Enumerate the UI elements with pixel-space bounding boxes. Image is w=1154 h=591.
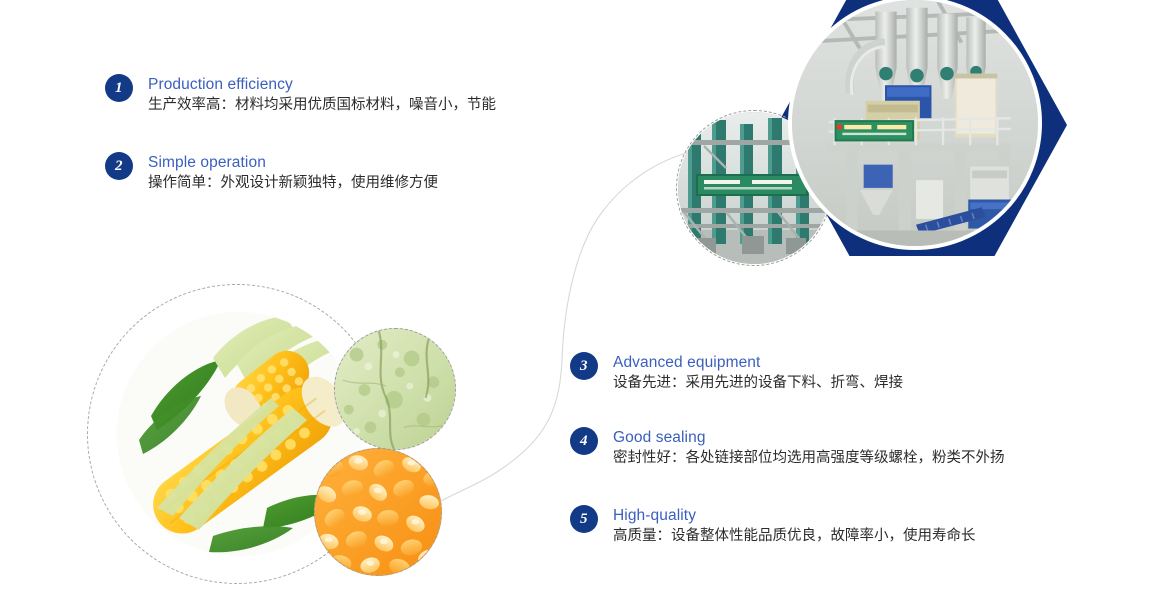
feature-description-2: 操作简单：外观设计新颖独特，使用维修方便	[148, 173, 438, 194]
feature-text-2: Simple operation 操作简单：外观设计新颖独特，使用维修方便	[148, 152, 438, 194]
corn-paste-photo	[334, 328, 456, 450]
infographic-canvas: 1 Production efficiency 生产效率高：材料均采用优质国标材…	[0, 0, 1154, 591]
feature-badge-5: 5	[570, 505, 598, 533]
feature-badge-2: 2	[105, 152, 133, 180]
feature-text-4: Good sealing 密封性好：各处链接部位均选用高强度等级螺栓，粉类不外扬	[613, 427, 1005, 469]
feature-text-3: Advanced equipment 设备先进：采用先进的设备下料、折弯、焊接	[613, 352, 903, 394]
feature-badge-3: 3	[570, 352, 598, 380]
corn-kernels-photo	[314, 448, 442, 576]
feature-description-3: 设备先进：采用先进的设备下料、折弯、焊接	[613, 373, 903, 394]
feature-description-4: 密封性好：各处链接部位均选用高强度等级螺栓，粉类不外扬	[613, 448, 1005, 469]
main-milling-plant-photo	[788, 0, 1042, 250]
feature-badge-1: 1	[105, 74, 133, 102]
feature-title-2: Simple operation	[148, 153, 438, 172]
milling-plant-image-cluster	[670, 0, 1070, 269]
feature-item-1[interactable]: 1 Production efficiency 生产效率高：材料均采用优质国标材…	[105, 74, 496, 116]
feature-title-5: High-quality	[613, 506, 976, 525]
feature-badge-4: 4	[570, 427, 598, 455]
feature-item-5[interactable]: 5 High-quality 高质量：设备整体性能品质优良，故障率小，使用寿命长	[570, 505, 976, 547]
feature-item-3[interactable]: 3 Advanced equipment 设备先进：采用先进的设备下料、折弯、焊…	[570, 352, 903, 394]
feature-text-1: Production efficiency 生产效率高：材料均采用优质国标材料，…	[148, 74, 496, 116]
feature-title-3: Advanced equipment	[613, 353, 903, 372]
feature-description-1: 生产效率高：材料均采用优质国标材料，噪音小，节能	[148, 95, 496, 116]
feature-title-4: Good sealing	[613, 428, 1005, 447]
feature-item-4[interactable]: 4 Good sealing 密封性好：各处链接部位均选用高强度等级螺栓，粉类不…	[570, 427, 1005, 469]
feature-title-1: Production efficiency	[148, 75, 496, 94]
corn-image-cluster	[85, 282, 485, 591]
feature-item-2[interactable]: 2 Simple operation 操作简单：外观设计新颖独特，使用维修方便	[105, 152, 438, 194]
feature-text-5: High-quality 高质量：设备整体性能品质优良，故障率小，使用寿命长	[613, 505, 976, 547]
feature-description-5: 高质量：设备整体性能品质优良，故障率小，使用寿命长	[613, 526, 976, 547]
